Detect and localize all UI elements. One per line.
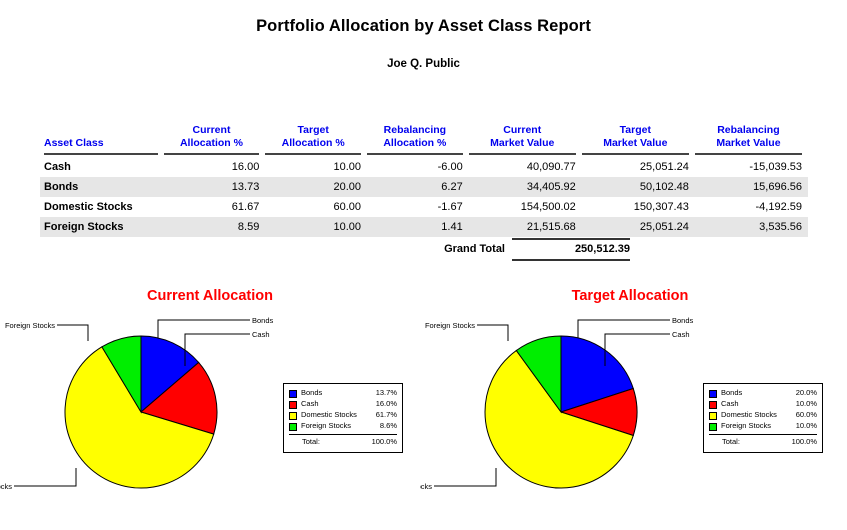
legend-separator <box>289 434 397 435</box>
legend-value: 61.7% <box>376 410 397 421</box>
legend-total-value: 100.0% <box>372 437 397 448</box>
cell-target-allocation-pct: 10.00 <box>265 157 367 177</box>
cell-current-allocation-pct: 16.00 <box>164 157 266 177</box>
legend-value: 20.0% <box>796 388 817 399</box>
page-title: Portfolio Allocation by Asset Class Repo… <box>0 17 847 36</box>
callout-label-bonds: Bonds <box>672 316 694 325</box>
header-line2: Market Value <box>603 137 667 149</box>
column-header-asset-class: Asset Class <box>40 124 164 157</box>
header-line1: Rebalancing <box>717 124 779 136</box>
column-header-current-allocation-pct: Current Allocation % <box>164 124 266 157</box>
legend-swatch-cash <box>709 401 717 409</box>
legend-value: 60.0% <box>796 410 817 421</box>
header-rule <box>582 153 689 155</box>
cell-current-market-value: 21,515.68 <box>469 217 582 237</box>
callout-line-domestic-stocks <box>434 468 496 486</box>
legend-label: Domestic Stocks <box>721 410 796 421</box>
header-line1: Target <box>298 124 329 136</box>
header-line2: Allocation % <box>282 137 345 149</box>
legend-swatch-bonds <box>289 390 297 398</box>
cell-current-allocation-pct: 13.73 <box>164 177 266 197</box>
cell-asset-class: Bonds <box>40 177 164 197</box>
cell-current-market-value: 40,090.77 <box>469 157 582 177</box>
chart-title: Current Allocation <box>0 288 420 304</box>
cell-rebalancing-market-value: -4,192.59 <box>695 197 808 217</box>
legend-label: Foreign Stocks <box>721 421 796 432</box>
callout-line-bonds <box>158 320 250 338</box>
legend-item: Foreign Stocks 8.6% <box>289 421 397 432</box>
legend-item: Cash 10.0% <box>709 399 817 410</box>
legend-label: Domestic Stocks <box>301 410 376 421</box>
cell-target-allocation-pct: 10.00 <box>265 217 367 237</box>
legend-total-row: Total: 100.0% <box>289 437 397 448</box>
column-header-target-market-value: Target Market Value <box>582 124 695 157</box>
header-rule <box>469 153 576 155</box>
cell-rebalancing-market-value: 3,535.56 <box>695 217 808 237</box>
header-line2: Market Value <box>490 137 554 149</box>
cell-target-allocation-pct: 60.00 <box>265 197 367 217</box>
callout-line-foreign-stocks <box>57 325 88 341</box>
chart-title: Target Allocation <box>420 288 840 304</box>
header-line1: Rebalancing <box>384 124 446 136</box>
cell-target-allocation-pct: 20.00 <box>265 177 367 197</box>
header-line2: Asset Class <box>44 137 104 149</box>
legend-label: Cash <box>301 399 376 410</box>
header-rule <box>44 153 158 155</box>
legend-item: Foreign Stocks 10.0% <box>709 421 817 432</box>
header-line1: Current <box>503 124 541 136</box>
allocation-table: Asset Class Current Allocation % Target … <box>40 124 808 237</box>
legend-separator <box>709 434 817 435</box>
cell-rebalancing-market-value: 15,696.56 <box>695 177 808 197</box>
pie-slices <box>65 336 217 488</box>
grand-total-rule-top <box>512 238 630 240</box>
report-subtitle: Joe Q. Public <box>0 58 847 70</box>
cell-rebalancing-allocation-pct: -6.00 <box>367 157 469 177</box>
legend-swatch-cash <box>289 401 297 409</box>
cell-rebalancing-allocation-pct: -1.67 <box>367 197 469 217</box>
column-header-rebalancing-market-value: Rebalancing Market Value <box>695 124 808 157</box>
cell-current-market-value: 34,405.92 <box>469 177 582 197</box>
pie-slices <box>485 336 637 488</box>
header-rule <box>265 153 361 155</box>
legend-total-row: Total: 100.0% <box>709 437 817 448</box>
grand-total-rule-bottom <box>512 259 630 261</box>
legend-value: 16.0% <box>376 399 397 410</box>
table-row: Cash 16.00 10.00 -6.00 40,090.77 25,051.… <box>40 157 808 177</box>
chart-current-allocation: Current Allocation Foreign Stocks Bonds … <box>0 278 420 530</box>
cell-target-market-value: 25,051.24 <box>582 157 695 177</box>
callout-line-foreign-stocks <box>477 325 508 341</box>
table-header-row: Asset Class Current Allocation % Target … <box>40 124 808 157</box>
grand-total-value: 250,512.39 <box>512 243 630 255</box>
legend-value: 13.7% <box>376 388 397 399</box>
legend-item: Bonds 20.0% <box>709 388 817 399</box>
legend-item: Domestic Stocks 60.0% <box>709 410 817 421</box>
legend-label: Bonds <box>721 388 796 399</box>
callout-label-domestic-stocks: Domestic Stocks <box>420 482 432 491</box>
column-header-rebalancing-allocation-pct: Rebalancing Allocation % <box>367 124 469 157</box>
header-rule <box>367 153 463 155</box>
callout-label-domestic-stocks: Domestic Stocks <box>0 482 12 491</box>
cell-target-market-value: 25,051.24 <box>582 217 695 237</box>
legend-total-label: Total: <box>289 437 372 448</box>
grand-total-label: Grand Total <box>395 243 505 255</box>
legend-current-allocation: Bonds 13.7% Cash 16.0% Domestic Stocks 6… <box>283 383 403 453</box>
legend-value: 10.0% <box>796 399 817 410</box>
legend-value: 10.0% <box>796 421 817 432</box>
legend-label: Foreign Stocks <box>301 421 380 432</box>
table-row: Domestic Stocks 61.67 60.00 -1.67 154,50… <box>40 197 808 217</box>
header-line2: Allocation % <box>180 137 243 149</box>
legend-total-label: Total: <box>709 437 792 448</box>
header-rule <box>695 153 802 155</box>
callout-label-cash: Cash <box>672 330 690 339</box>
legend-swatch-bonds <box>709 390 717 398</box>
callout-label-cash: Cash <box>252 330 270 339</box>
header-line1: Current <box>193 124 231 136</box>
column-header-current-market-value: Current Market Value <box>469 124 582 157</box>
legend-swatch-foreign-stocks <box>289 423 297 431</box>
grand-total-row: Grand Total 250,512.39 <box>40 238 808 262</box>
header-line2: Market Value <box>716 137 780 149</box>
cell-rebalancing-market-value: -15,039.53 <box>695 157 808 177</box>
cell-current-market-value: 154,500.02 <box>469 197 582 217</box>
cell-target-market-value: 150,307.43 <box>582 197 695 217</box>
callout-label-foreign-stocks: Foreign Stocks <box>5 321 55 330</box>
legend-swatch-domestic-stocks <box>289 412 297 420</box>
callout-label-foreign-stocks: Foreign Stocks <box>425 321 475 330</box>
callout-label-bonds: Bonds <box>252 316 274 325</box>
callout-line-domestic-stocks <box>14 468 76 486</box>
legend-target-allocation: Bonds 20.0% Cash 10.0% Domestic Stocks 6… <box>703 383 823 453</box>
cell-asset-class: Domestic Stocks <box>40 197 164 217</box>
header-rule <box>164 153 260 155</box>
callout-line-bonds <box>578 320 670 338</box>
legend-label: Bonds <box>301 388 376 399</box>
cell-current-allocation-pct: 8.59 <box>164 217 266 237</box>
column-header-target-allocation-pct: Target Allocation % <box>265 124 367 157</box>
cell-current-allocation-pct: 61.67 <box>164 197 266 217</box>
legend-value: 8.6% <box>380 421 397 432</box>
legend-item: Domestic Stocks 61.7% <box>289 410 397 421</box>
cell-asset-class: Foreign Stocks <box>40 217 164 237</box>
legend-swatch-foreign-stocks <box>709 423 717 431</box>
legend-item: Bonds 13.7% <box>289 388 397 399</box>
cell-rebalancing-allocation-pct: 6.27 <box>367 177 469 197</box>
cell-target-market-value: 50,102.48 <box>582 177 695 197</box>
legend-swatch-domestic-stocks <box>709 412 717 420</box>
table-row: Foreign Stocks 8.59 10.00 1.41 21,515.68… <box>40 217 808 237</box>
header-line2: Allocation % <box>383 137 446 149</box>
legend-label: Cash <box>721 399 796 410</box>
cell-rebalancing-allocation-pct: 1.41 <box>367 217 469 237</box>
cell-asset-class: Cash <box>40 157 164 177</box>
legend-item: Cash 16.0% <box>289 399 397 410</box>
chart-target-allocation: Target Allocation Foreign Stocks Bonds C… <box>420 278 840 530</box>
table-row: Bonds 13.73 20.00 6.27 34,405.92 50,102.… <box>40 177 808 197</box>
header-line1: Target <box>620 124 651 136</box>
legend-total-value: 100.0% <box>792 437 817 448</box>
